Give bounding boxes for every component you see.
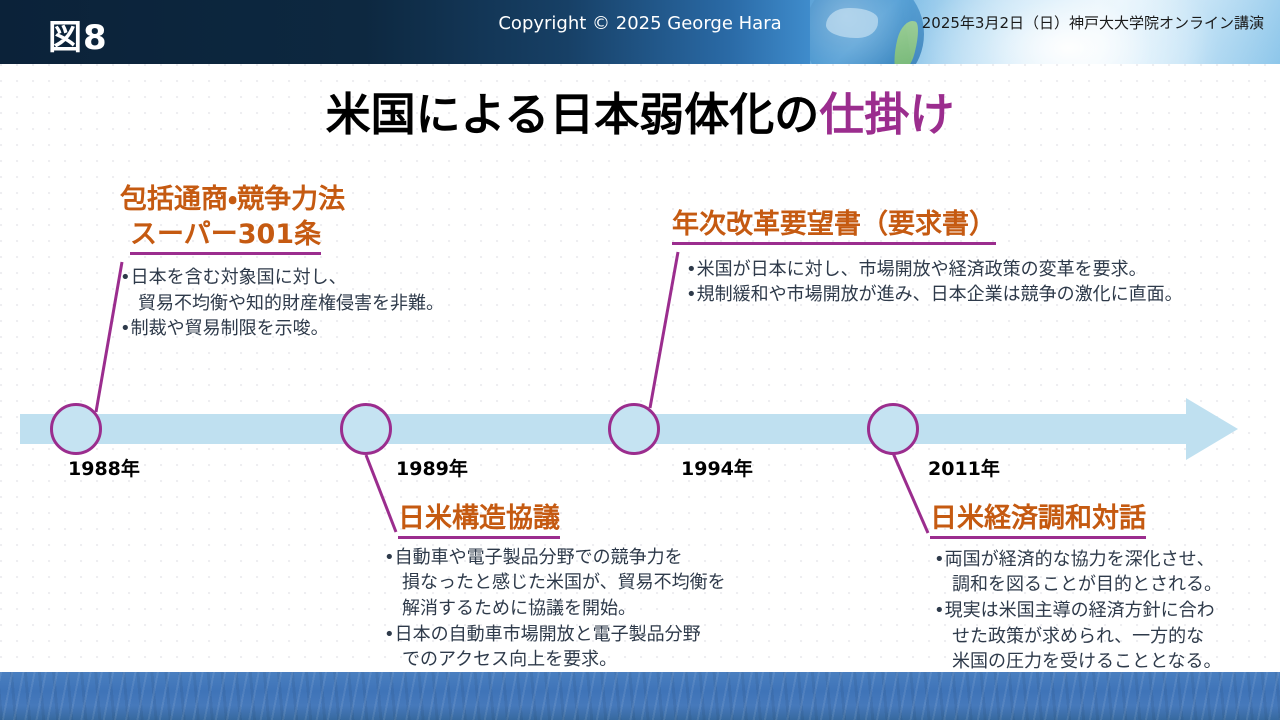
timeline-year-label: 1989年 [396,454,468,481]
callout-1988-heading: 包括通商・競争力法 スーパー301条 [120,182,444,255]
callout-1994-body: •米国が日本に対し、市場開放や経済政策の変革を要求。 •規制緩和や市場開放が進み… [686,257,1183,308]
leader-line-1989 [366,455,396,532]
bullet-line: 解消するために協議を開始。 [384,596,726,622]
slide-canvas: 図8 2025年3月2日（日）神戸大大学院オンライン講演 米国による日本弱体化の… [0,0,1280,720]
title-main: 米国による日本弱体化の [326,88,820,141]
callout-1989-heading: 日米構造協議 [398,503,560,539]
timeline-arrowhead-icon [1186,398,1238,460]
bullet-line: •現実は米国主導の経済方針に合わ [934,598,1222,624]
leader-line-2011 [893,453,928,533]
callout-1989: 日米構造協議 •自動車や電子製品分野での競争力を 損なったと感じた米国が、貿易不… [398,503,726,673]
title-accent: 仕掛け [819,88,954,141]
timeline-node-1988[interactable] [50,403,102,455]
bullet-line: •米国が日本に対し、市場開放や経済政策の変革を要求。 [686,257,1183,283]
bullet-line: •自動車や電子製品分野での競争力を [384,545,726,571]
callout-1994-heading: 年次改革要望書（要求書） [672,208,996,245]
bullet-line: 調和を図ることが目的とされる。 [934,572,1222,598]
callout-1988-body: •日本を含む対象国に対し、 貿易不均衡や知的財産権侵害を非難。 •制裁や貿易制限… [120,265,444,342]
callout-2011-body: •両国が経済的な協力を深化させ、 調和を図ることが目的とされる。 •現実は米国主… [934,547,1222,675]
timeline-node-2011[interactable] [867,403,919,455]
leader-line-1988 [96,262,122,412]
callout-1988-heading-line1: 包括通商・競争力法 [120,182,444,217]
page-title: 米国による日本弱体化の仕掛け [0,78,1280,143]
bullet-line: 米国の圧力を受けることとなる。 [934,649,1222,675]
bullet-line: でのアクセス向上を要求。 [384,647,726,673]
timeline-node-1989[interactable] [340,403,392,455]
callout-1988: 包括通商・競争力法 スーパー301条 •日本を含む対象国に対し、 貿易不均衡や知… [120,182,444,342]
bullet-line: 貿易不均衡や知的財産権侵害を非難。 [120,291,444,317]
timeline-year-label: 1988年 [68,454,140,481]
callout-1989-heading-main: 日米構造協議 [398,503,560,534]
bullet-line: •日本の自動車市場開放と電子製品分野 [384,622,726,648]
copyright-text: Copyright © 2025 George Hara [0,13,1280,34]
bullet-line: •日本を含む対象国に対し、 [120,265,444,291]
footer-band [0,672,1280,720]
bullet-line: •両国が経済的な協力を深化させ、 [934,547,1222,573]
timeline-node-1994[interactable] [608,403,660,455]
callout-1994-heading-suffix: （要求書） [861,209,996,240]
bullet-line: 損なったと感じた米国が、貿易不均衡を [384,570,726,596]
callout-1988-heading-line2: スーパー301条 [130,217,321,255]
callout-2011-heading: 日米経済調和対話 [930,503,1146,539]
callout-1994: 年次改革要望書（要求書） •米国が日本に対し、市場開放や経済政策の変革を要求。 … [672,208,1183,308]
timeline-year-label: 2011年 [928,454,1000,481]
timeline-year-label: 1994年 [681,454,753,481]
callout-1989-body: •自動車や電子製品分野での競争力を 損なったと感じた米国が、貿易不均衡を 解消す… [384,545,726,673]
callout-2011: 日米経済調和対話 •両国が経済的な協力を深化させ、 調和を図ることが目的とされる… [930,503,1222,675]
timeline-bar [20,414,1190,444]
bullet-line: せた政策が求められ、一方的な [934,624,1222,650]
bullet-line: •制裁や貿易制限を示唆。 [120,316,444,342]
callout-1994-heading-main: 年次改革要望書 [672,209,861,240]
bullet-line: •規制緩和や市場開放が進み、日本企業は競争の激化に直面。 [686,282,1183,308]
callout-2011-heading-main: 日米経済調和対話 [930,503,1146,534]
